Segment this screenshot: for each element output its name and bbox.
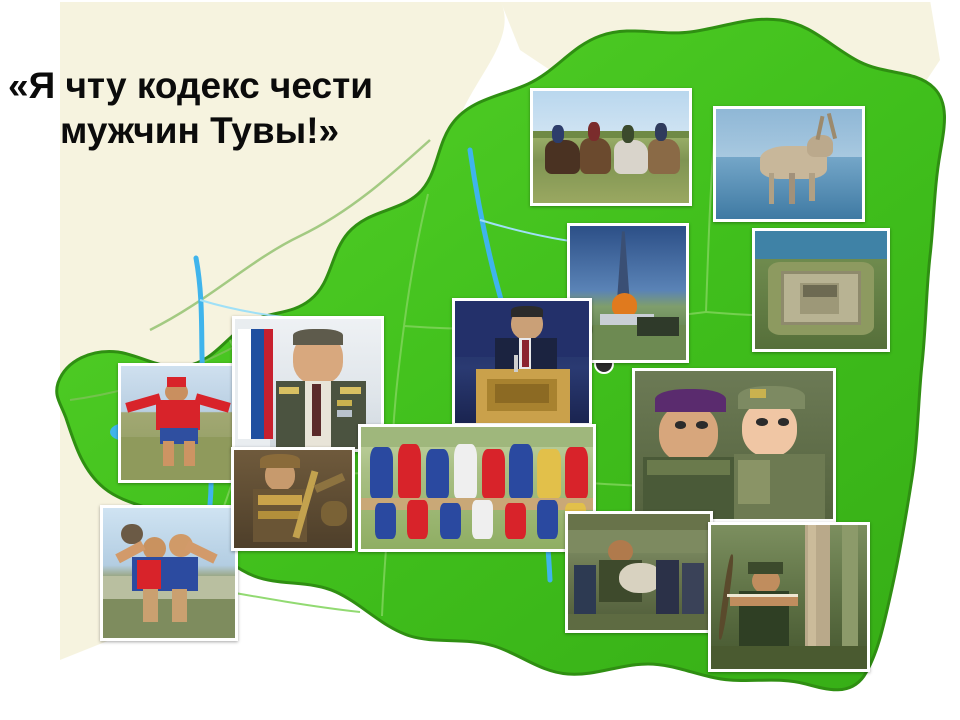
photo-mass-wrestling-parade[interactable] <box>358 424 596 552</box>
photo-reindeer[interactable] <box>713 106 865 222</box>
photo-stone-lifting[interactable] <box>565 511 713 633</box>
photo-wrestler-eagle-pose[interactable] <box>118 363 240 483</box>
photo-mass-wrestling-parade-image <box>361 427 593 549</box>
photo-por-bajin-fortress-image <box>755 231 887 349</box>
photo-wrestlers-victory-image <box>103 508 235 638</box>
slide-title: «Я чту кодекс чести мужчин Тувы!» <box>8 18 568 199</box>
photo-wrestler-eagle-pose-image <box>121 366 237 480</box>
photo-speaker-at-podium-image <box>455 301 589 423</box>
photo-soldier-and-boy-image <box>635 371 833 519</box>
photo-reindeer-image <box>716 109 862 219</box>
slide-canvas: «Я чту кодекс чести мужчин Тувы!» <box>0 0 960 720</box>
photo-warrior-armor-image <box>234 450 352 548</box>
photo-soldier-and-boy[interactable] <box>632 368 836 522</box>
title-line-1: «Я чту кодекс чести <box>8 65 373 106</box>
photo-archer[interactable] <box>708 522 870 672</box>
photo-stone-lifting-image <box>568 514 710 630</box>
photo-por-bajin-fortress[interactable] <box>752 228 890 352</box>
photo-speaker-at-podium[interactable] <box>452 298 592 426</box>
photo-wrestlers-victory[interactable] <box>100 505 238 641</box>
title-line-2: мужчин Тувы!» <box>8 108 568 153</box>
photo-warrior-armor[interactable] <box>231 447 355 551</box>
photo-archer-image <box>711 525 867 669</box>
